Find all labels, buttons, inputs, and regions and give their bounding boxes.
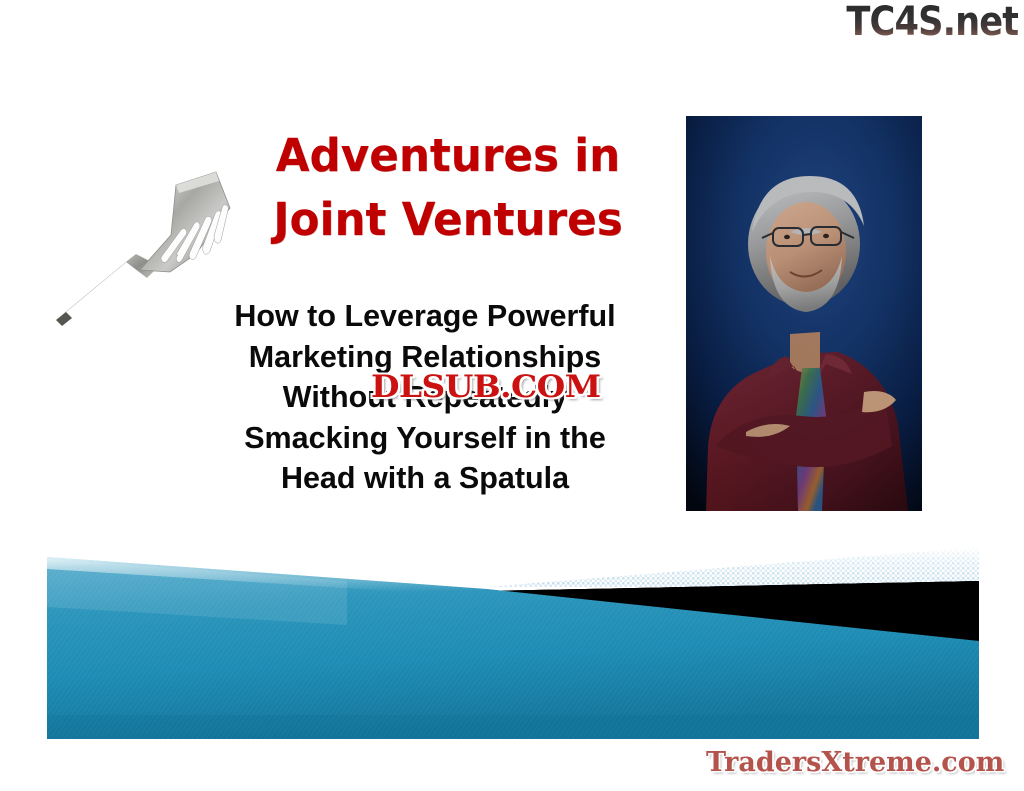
tc4s-logo: TC4S.net (846, 2, 1018, 42)
spatula-blade (140, 172, 230, 272)
tradersxtreme-watermark: TradersXtreme.com (706, 749, 1004, 776)
title-line-1: Adventures in (235, 124, 662, 188)
slide-title: Adventures in Joint Ventures (228, 124, 668, 252)
subtitle-line-4: Smacking Yourself in the (182, 418, 668, 459)
subtitle-line-1: How to Leverage Powerful (182, 296, 668, 337)
banner-svg (47, 547, 979, 745)
spatula-handle (56, 254, 136, 320)
speaker-portrait (686, 116, 922, 511)
presentation-slide: TC4S.net (0, 0, 1024, 791)
portrait-vignette (686, 116, 922, 511)
bottom-banner (47, 547, 979, 745)
dlsub-watermark: DLSUB.COM (371, 372, 601, 403)
subtitle-line-5: Head with a Spatula (182, 458, 668, 499)
portrait-svg (686, 116, 922, 511)
banner-bottom-shade (47, 715, 979, 739)
spatula-handle-end (56, 312, 72, 326)
title-line-2: Joint Ventures (235, 188, 662, 252)
